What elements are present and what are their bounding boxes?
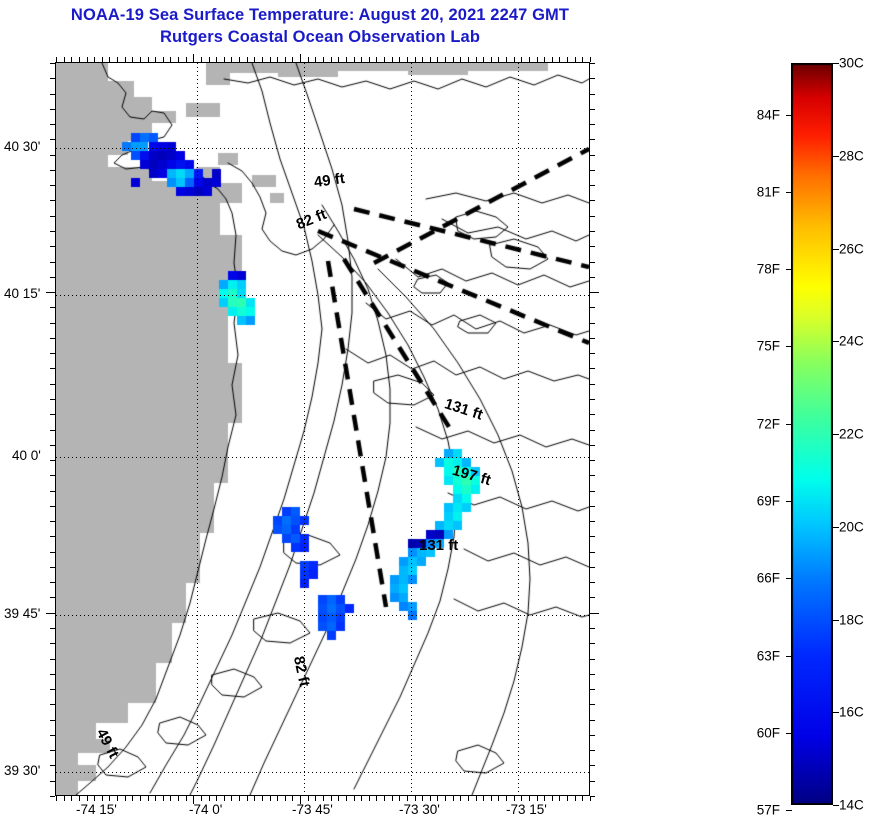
axis-tick-y	[590, 94, 595, 95]
axis-tick-x	[239, 57, 240, 62]
axis-tick-x	[445, 796, 446, 801]
xtick-label-1: -74 0'	[189, 802, 222, 817]
axis-tick-y	[50, 567, 55, 568]
axis-tick-x	[201, 796, 202, 801]
ytick-label-3: 39 45'	[4, 606, 40, 621]
colorbar-tick-f-81	[786, 192, 792, 193]
axis-tick-x	[254, 796, 255, 801]
axis-tick-x	[79, 57, 80, 62]
axis-tick-y	[50, 139, 55, 140]
axis-tick-y	[50, 414, 55, 415]
xtick-label-3: -73 30'	[399, 802, 440, 817]
axis-tick-y	[590, 750, 595, 751]
axis-tick-x	[209, 796, 210, 801]
axis-tick-y	[50, 231, 55, 232]
axis-tick-x	[125, 57, 126, 62]
axis-tick-y	[50, 170, 55, 171]
axis-tick-x	[270, 57, 271, 62]
axis-tick-y	[50, 323, 55, 324]
axis-tick-x	[178, 57, 179, 62]
axis-tick-y	[50, 78, 55, 79]
axis-tick-y	[590, 445, 595, 446]
axis-tick-x	[575, 796, 576, 801]
colorbar-tick-f-69	[786, 501, 792, 502]
axis-tick-x	[231, 796, 232, 801]
axis-tick-y	[590, 368, 595, 369]
axis-tick-x	[392, 796, 393, 801]
axis-tick-x	[315, 57, 316, 62]
axis-tick-y	[50, 674, 55, 675]
axis-tick-y	[590, 536, 595, 537]
axis-tick-x	[453, 796, 454, 801]
axis-tick-x	[148, 57, 149, 62]
axis-tick-y	[50, 582, 55, 583]
axis-tick-x	[323, 57, 324, 62]
axis-tick-y	[50, 445, 55, 446]
axis-tick-x	[193, 54, 194, 62]
axis-tick-x	[247, 57, 248, 62]
axis-tick-y	[590, 704, 595, 705]
colorbar-label-f-60: 60F	[757, 725, 780, 740]
axis-tick-x	[521, 57, 522, 62]
axis-tick-y	[590, 185, 595, 186]
title-line-2: Rutgers Coastal Ocean Observation Lab	[0, 26, 640, 48]
axis-tick-x	[384, 796, 385, 801]
gridline-lat-40-00	[56, 457, 589, 458]
axis-tick-y	[50, 628, 55, 629]
axis-tick-x	[140, 57, 141, 62]
axis-tick-x	[178, 796, 179, 801]
colorbar-label-f-72: 72F	[757, 416, 780, 431]
axis-tick-y	[590, 353, 595, 354]
colorbar-label-f-75: 75F	[757, 339, 780, 354]
colorbar-tick-f-78	[786, 269, 792, 270]
axis-tick-y	[590, 216, 595, 217]
axis-tick-y	[50, 750, 55, 751]
axis-tick-x	[407, 796, 408, 801]
axis-tick-y	[50, 460, 55, 461]
axis-tick-y	[590, 689, 595, 690]
axis-tick-x	[323, 796, 324, 801]
axis-tick-y	[590, 139, 595, 140]
axis-tick-x	[308, 796, 309, 801]
colorbar-label-c-20: 20C	[839, 519, 864, 534]
axis-tick-y	[590, 720, 595, 721]
axis-tick-x	[582, 796, 583, 801]
axis-tick-y	[590, 124, 595, 125]
axis-tick-y	[50, 689, 55, 690]
axis-tick-y	[590, 78, 595, 79]
axis-tick-x	[369, 796, 370, 801]
axis-tick-y	[590, 246, 595, 247]
axis-tick-y	[50, 735, 55, 736]
axis-tick-x	[155, 57, 156, 62]
axis-tick-x	[346, 796, 347, 801]
axis-tick-x	[216, 796, 217, 801]
axis-tick-x	[285, 796, 286, 801]
colorbar-tick-f-60	[786, 733, 792, 734]
axis-tick-x	[163, 57, 164, 62]
axis-tick-x	[94, 57, 95, 62]
colorbar-label-c-26: 26C	[839, 241, 864, 256]
axis-tick-y	[590, 338, 595, 339]
colorbar-tick-f-57	[786, 810, 792, 811]
gridline-lon--74-15	[197, 63, 198, 795]
gridline-lat-40-30	[56, 148, 589, 149]
axis-tick-y	[50, 384, 55, 385]
axis-tick-x	[163, 796, 164, 801]
axis-tick-y	[590, 460, 595, 461]
axis-tick-y	[50, 368, 55, 369]
axis-tick-y	[50, 506, 55, 507]
axis-tick-y	[50, 63, 55, 64]
axis-tick-y	[50, 491, 55, 492]
axis-tick-y	[590, 781, 595, 782]
axis-tick-x	[537, 57, 538, 62]
axis-tick-x	[559, 796, 560, 801]
axis-tick-y	[590, 552, 595, 553]
axis-tick-y	[590, 63, 595, 64]
axis-tick-y	[590, 506, 595, 507]
colorbar-label-f-66: 66F	[757, 571, 780, 586]
axis-tick-y	[50, 155, 55, 156]
ytick-label-0: 40 30'	[4, 139, 40, 154]
axis-tick-y	[50, 277, 55, 278]
axis-tick-x	[544, 57, 545, 62]
temperature-colorbar[interactable]	[791, 63, 833, 805]
axis-tick-x	[247, 796, 248, 801]
axis-tick-x	[64, 796, 65, 801]
axis-tick-x	[392, 57, 393, 62]
axis-tick-x	[71, 57, 72, 62]
axis-tick-x	[262, 796, 263, 801]
axis-tick-x	[338, 57, 339, 62]
axis-tick-y	[590, 491, 595, 492]
axis-tick-y	[590, 170, 595, 171]
axis-tick-x	[224, 57, 225, 62]
axis-tick-x	[132, 796, 133, 801]
depth-label-131ft-south: 131 ft	[419, 537, 458, 554]
axis-tick-x	[346, 57, 347, 62]
chart-title-block: NOAA-19 Sea Surface Temperature: August …	[0, 4, 640, 48]
colorbar-label-f-63: 63F	[757, 648, 780, 663]
axis-tick-y	[50, 338, 55, 339]
axis-tick-x	[224, 796, 225, 801]
ytick-label-1: 40 15'	[4, 286, 40, 301]
axis-tick-y	[590, 399, 595, 400]
axis-tick-x	[415, 57, 416, 62]
axis-tick-x	[186, 796, 187, 801]
axis-tick-y	[590, 735, 595, 736]
axis-tick-x	[361, 57, 362, 62]
gridline-lon--73-45	[411, 63, 412, 795]
axis-tick-x	[155, 796, 156, 801]
axis-tick-x	[170, 57, 171, 62]
axis-tick-y	[50, 720, 55, 721]
axis-tick-x	[277, 796, 278, 801]
axis-tick-x	[453, 57, 454, 62]
axis-tick-x	[567, 796, 568, 801]
axis-tick-y	[590, 796, 595, 797]
colorbar-tick-f-75	[786, 346, 792, 347]
axis-tick-x	[552, 796, 553, 801]
axis-tick-x	[109, 796, 110, 801]
axis-tick-x	[376, 57, 377, 62]
axis-tick-x	[231, 57, 232, 62]
axis-tick-x	[537, 796, 538, 801]
colorbar-label-f-81: 81F	[757, 184, 780, 199]
axis-tick-y	[590, 521, 595, 522]
axis-tick-x	[468, 57, 469, 62]
axis-tick-x	[354, 57, 355, 62]
axis-tick-x	[437, 796, 438, 801]
colorbar-label-f-78: 78F	[757, 262, 780, 277]
gridline-lat-39-30	[56, 772, 589, 773]
axis-tick-x	[422, 57, 423, 62]
axis-tick-x	[56, 796, 57, 801]
axis-tick-x	[292, 57, 293, 62]
axis-tick-y	[46, 292, 55, 293]
axis-tick-x	[445, 57, 446, 62]
axis-tick-x	[491, 57, 492, 62]
colorbar-tick-f-84	[786, 115, 792, 116]
axis-tick-x	[140, 796, 141, 801]
axis-tick-y	[590, 307, 595, 308]
axis-tick-x	[491, 796, 492, 801]
axis-tick-y	[590, 414, 595, 415]
axis-tick-x	[186, 57, 187, 62]
axis-tick-y	[50, 765, 55, 766]
colorbar-tick-f-63	[786, 656, 792, 657]
gridline-lat-40-15	[56, 295, 589, 296]
axis-tick-x	[476, 57, 477, 62]
title-line-1: NOAA-19 Sea Surface Temperature: August …	[0, 4, 640, 26]
axis-tick-x	[521, 796, 522, 801]
xtick-label-0: -74 15'	[76, 802, 117, 817]
axis-tick-x	[529, 796, 530, 801]
axis-tick-x	[285, 57, 286, 62]
colorbar-tick-f-72	[786, 424, 792, 425]
axis-tick-y	[590, 643, 595, 644]
colorbar-tick-f-66	[786, 578, 792, 579]
axis-tick-x	[94, 796, 95, 801]
axis-tick-x	[369, 57, 370, 62]
axis-tick-x	[498, 57, 499, 62]
axis-tick-y	[50, 659, 55, 660]
axis-tick-x	[567, 57, 568, 62]
axis-tick-x	[376, 796, 377, 801]
axis-tick-x	[87, 796, 88, 801]
colorbar-label-c-30: 30C	[839, 56, 864, 71]
axis-tick-x	[254, 57, 255, 62]
ytick-label-2: 40 0'	[12, 448, 41, 463]
axis-tick-x	[87, 57, 88, 62]
axis-tick-x	[506, 796, 507, 801]
axis-tick-x	[109, 57, 110, 62]
axis-tick-x	[422, 796, 423, 801]
axis-tick-y	[50, 399, 55, 400]
axis-tick-y	[50, 109, 55, 110]
axis-tick-x	[476, 796, 477, 801]
axis-tick-x	[71, 796, 72, 801]
axis-tick-x	[239, 796, 240, 801]
colorbar-label-c-14: 14C	[839, 798, 864, 813]
axis-tick-x	[262, 57, 263, 62]
axis-tick-x	[79, 796, 80, 801]
axis-tick-y	[590, 109, 595, 110]
colorbar-label-c-24: 24C	[839, 334, 864, 349]
axis-tick-y	[50, 552, 55, 553]
axis-tick-y	[50, 124, 55, 125]
axis-tick-y	[590, 262, 595, 263]
colorbar-label-c-16: 16C	[839, 705, 864, 720]
axis-tick-x	[270, 796, 271, 801]
axis-tick-x	[300, 54, 301, 62]
axis-tick-x	[338, 796, 339, 801]
axis-tick-y	[50, 704, 55, 705]
axis-tick-y	[590, 674, 595, 675]
axis-tick-y	[590, 430, 595, 431]
axis-tick-y	[590, 200, 595, 201]
axis-tick-y	[50, 643, 55, 644]
axis-tick-x	[209, 57, 210, 62]
axis-tick-y	[50, 430, 55, 431]
xtick-label-4: -73 15'	[506, 802, 547, 817]
axis-tick-x	[331, 57, 332, 62]
axis-tick-y	[50, 796, 55, 797]
axis-tick-x	[552, 57, 553, 62]
axis-tick-x	[277, 57, 278, 62]
axis-tick-x	[498, 796, 499, 801]
axis-tick-y	[590, 155, 595, 156]
axis-tick-y	[50, 200, 55, 201]
axis-tick-y	[590, 292, 599, 293]
axis-tick-y	[50, 353, 55, 354]
axis-tick-y	[590, 475, 595, 476]
axis-tick-y	[50, 536, 55, 537]
axis-tick-x	[170, 796, 171, 801]
axis-tick-y	[50, 521, 55, 522]
axis-tick-y	[590, 659, 595, 660]
axis-tick-x	[514, 796, 515, 801]
axis-tick-x	[102, 796, 103, 801]
axis-tick-y	[590, 323, 595, 324]
axis-tick-x	[125, 796, 126, 801]
axis-tick-x	[117, 57, 118, 62]
axis-tick-y	[590, 231, 595, 232]
axis-tick-x	[430, 796, 431, 801]
axis-tick-y	[590, 582, 595, 583]
axis-tick-y	[50, 185, 55, 186]
axis-tick-y	[50, 246, 55, 247]
axis-tick-y	[590, 628, 595, 629]
colorbar-label-c-28: 28C	[839, 148, 864, 163]
axis-tick-x	[415, 796, 416, 801]
axis-tick-x	[437, 57, 438, 62]
axis-tick-x	[575, 57, 576, 62]
axis-tick-x	[102, 57, 103, 62]
axis-tick-x	[201, 57, 202, 62]
axis-tick-y	[50, 94, 55, 95]
axis-tick-y	[590, 613, 599, 614]
colorbar-label-c-18: 18C	[839, 612, 864, 627]
axis-tick-x	[460, 57, 461, 62]
gridline-lon--73-30	[518, 63, 519, 795]
axis-tick-x	[514, 57, 515, 62]
axis-tick-x	[216, 57, 217, 62]
axis-tick-y	[590, 277, 595, 278]
axis-tick-x	[460, 796, 461, 801]
ytick-label-4: 39 30'	[4, 763, 40, 778]
axis-tick-x	[292, 796, 293, 801]
axis-tick-y	[50, 475, 55, 476]
xtick-label-2: -73 45'	[292, 802, 333, 817]
axis-tick-y	[590, 765, 595, 766]
axis-tick-x	[399, 796, 400, 801]
axis-tick-x	[407, 57, 408, 62]
colorbar-label-f-69: 69F	[757, 493, 780, 508]
axis-tick-x	[483, 57, 484, 62]
axis-tick-y	[46, 613, 55, 614]
axis-tick-x	[529, 57, 530, 62]
axis-tick-x	[582, 57, 583, 62]
colorbar-gradient[interactable]	[791, 63, 833, 805]
axis-tick-x	[483, 796, 484, 801]
colorbar-label-c-22: 22C	[839, 427, 864, 442]
axis-tick-y	[590, 567, 595, 568]
axis-tick-x	[308, 57, 309, 62]
axis-tick-x	[148, 796, 149, 801]
axis-tick-y	[590, 384, 595, 385]
axis-tick-x	[468, 796, 469, 801]
colorbar-label-f-57: 57F	[757, 803, 780, 818]
axis-tick-x	[399, 57, 400, 62]
sst-map-frame[interactable]: 49 ft 82 ft 131 ft 197 ft 131 ft 82 ft 4…	[55, 62, 590, 796]
axis-tick-x	[331, 796, 332, 801]
axis-tick-x	[117, 796, 118, 801]
axis-tick-x	[559, 57, 560, 62]
axis-tick-y	[50, 781, 55, 782]
axis-tick-x	[354, 796, 355, 801]
axis-tick-y	[50, 216, 55, 217]
axis-tick-x	[590, 57, 591, 62]
axis-tick-y	[590, 597, 595, 598]
axis-tick-x	[56, 57, 57, 62]
axis-tick-x	[544, 796, 545, 801]
axis-tick-y	[50, 307, 55, 308]
axis-tick-x	[315, 796, 316, 801]
axis-tick-y	[50, 262, 55, 263]
axis-tick-x	[384, 57, 385, 62]
axis-tick-x	[430, 57, 431, 62]
axis-tick-y	[50, 597, 55, 598]
axis-tick-x	[64, 57, 65, 62]
axis-tick-x	[361, 796, 362, 801]
gridline-lat-39-45	[56, 615, 589, 616]
colorbar-label-f-84: 84F	[757, 107, 780, 122]
axis-tick-x	[506, 57, 507, 62]
axis-tick-x	[132, 57, 133, 62]
